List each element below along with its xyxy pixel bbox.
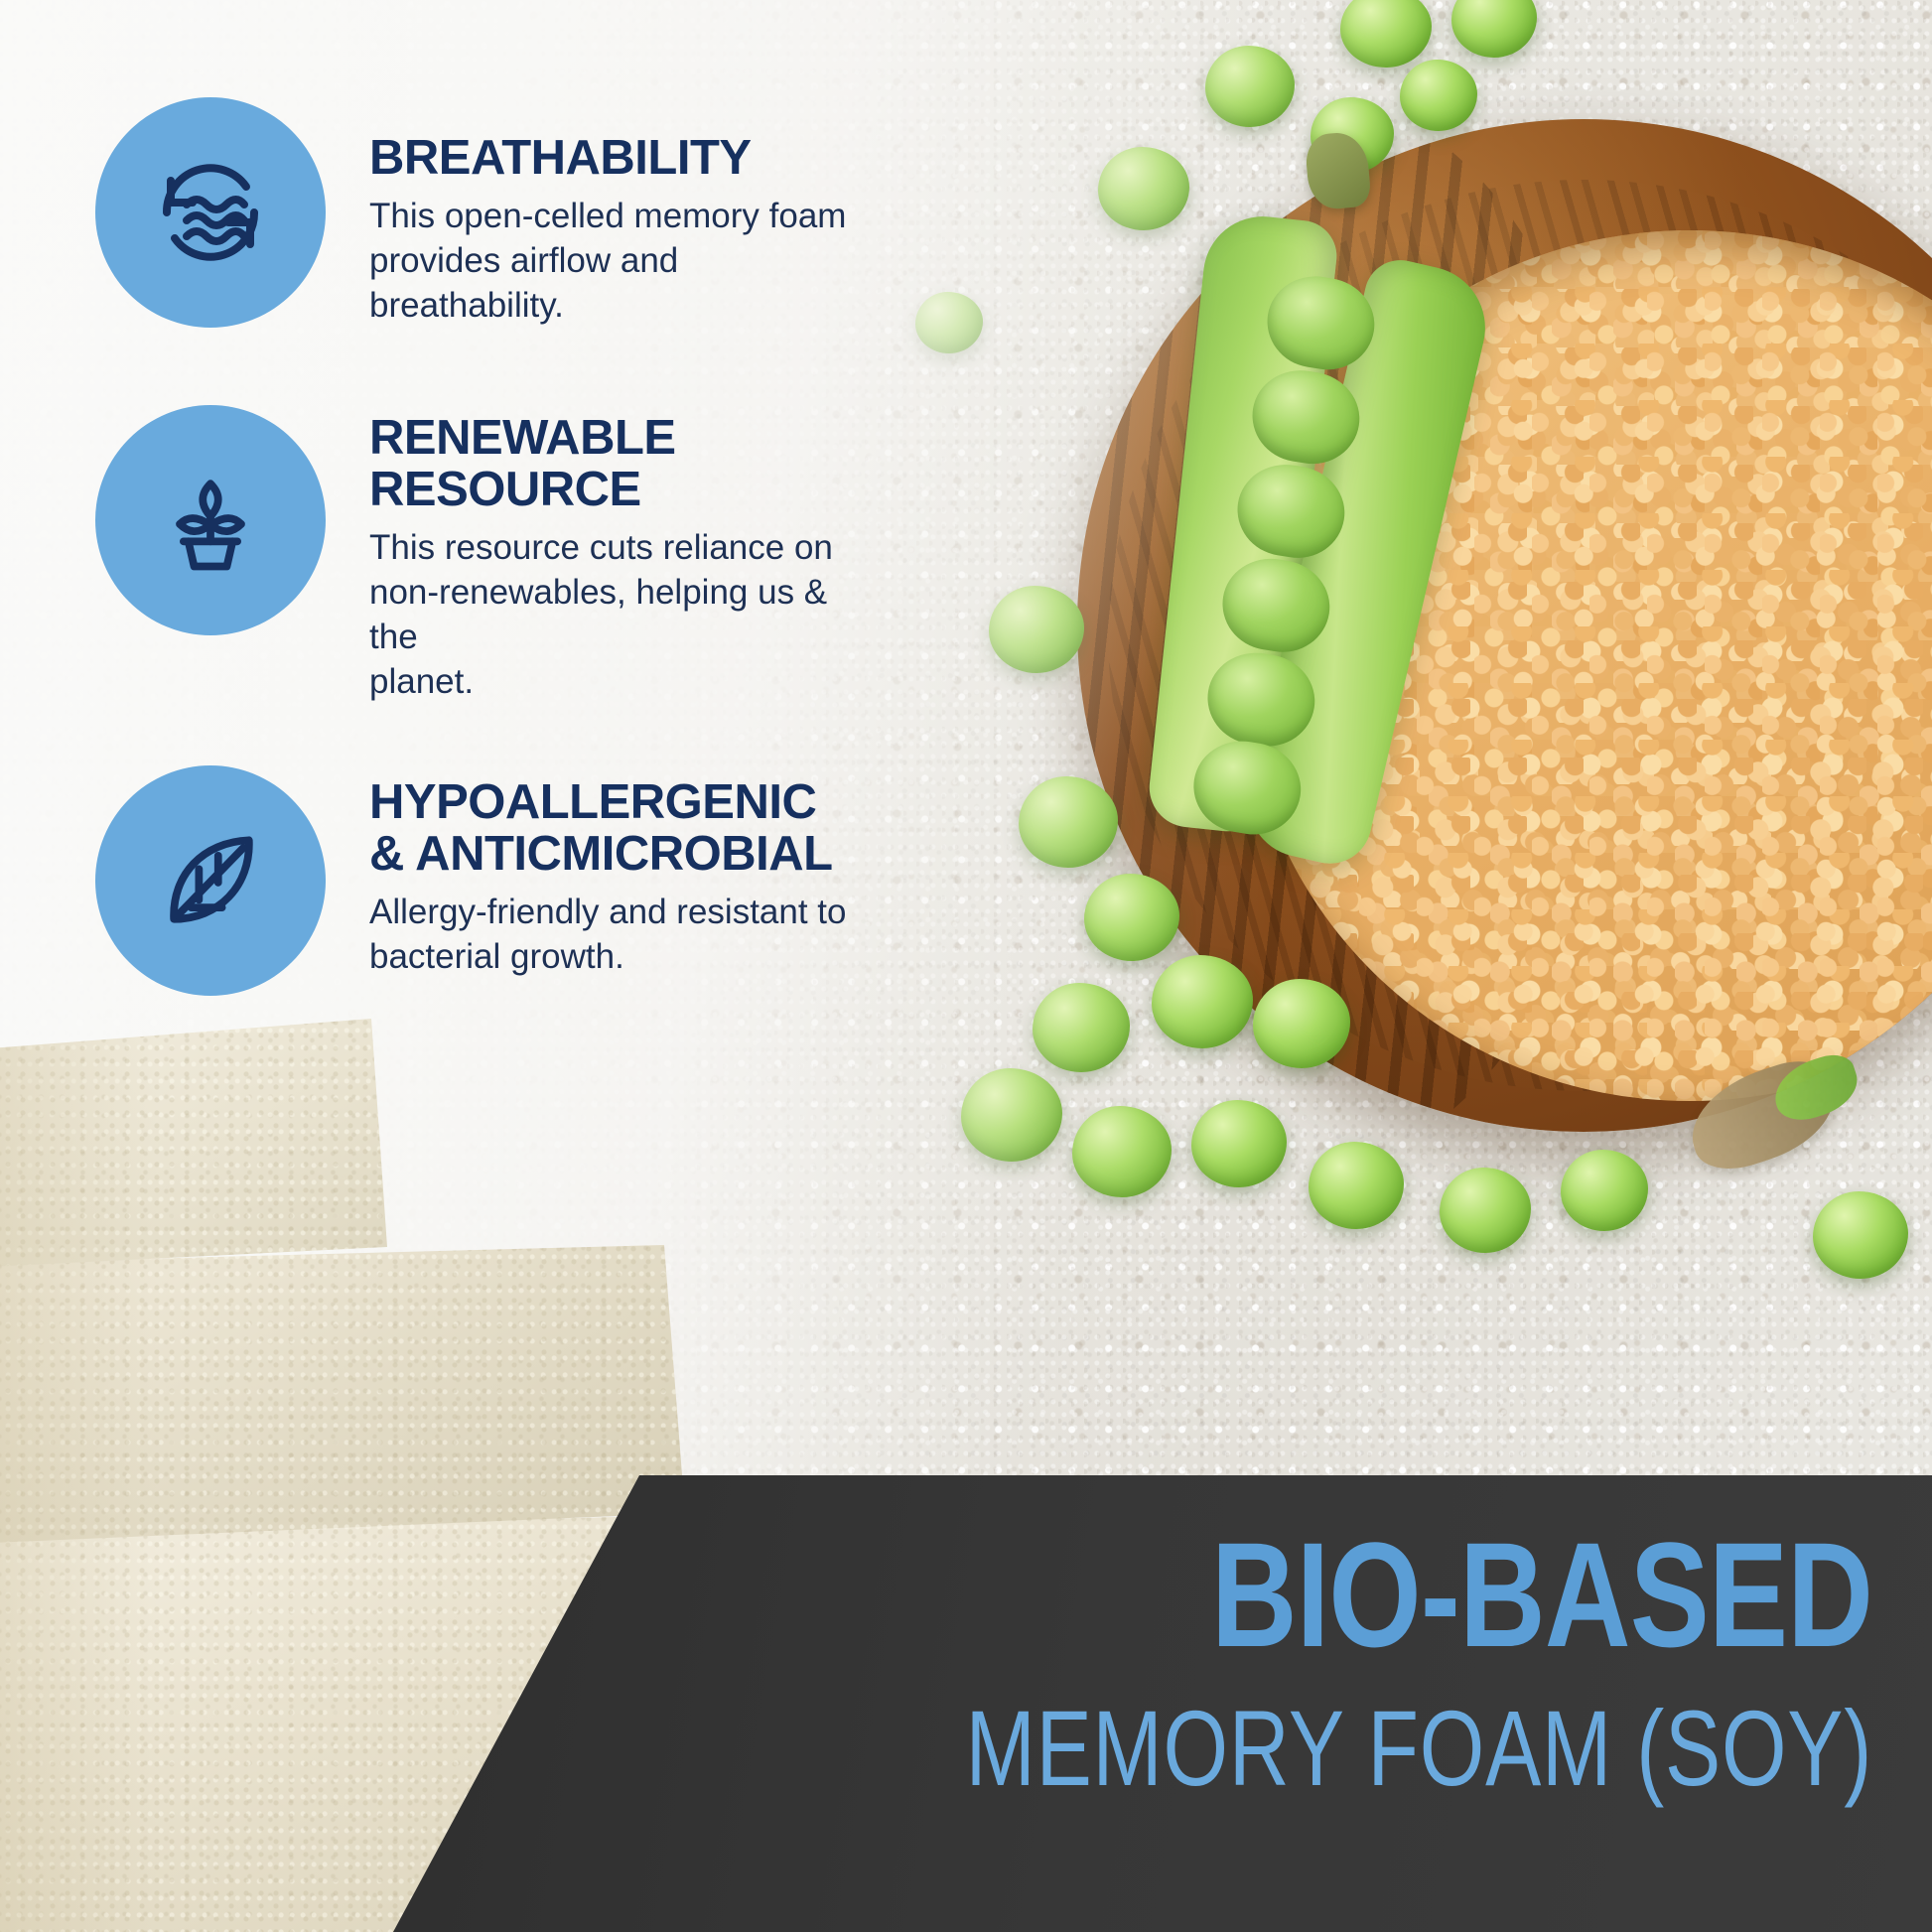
leaf-icon bbox=[149, 819, 272, 942]
feature-text: BREATHABILITY This open-celled memory fo… bbox=[369, 97, 866, 328]
feature-breathability: BREATHABILITY This open-celled memory fo… bbox=[95, 97, 973, 328]
feature-icon-badge bbox=[95, 765, 326, 996]
feature-body: This open-celled memory foam provides ai… bbox=[369, 195, 866, 328]
feature-title: BREATHABILITY bbox=[369, 133, 866, 185]
banner-subtitle: MEMORY FOAM (SOY) bbox=[966, 1692, 1872, 1804]
feature-body: Allergy-friendly and resistant to bacter… bbox=[369, 891, 847, 980]
feature-icon-badge bbox=[95, 97, 326, 328]
potted-plant-icon bbox=[149, 459, 272, 582]
feature-text: RENEWABLE RESOURCE This resource cuts re… bbox=[369, 405, 866, 704]
feature-title: HYPOALLERGENIC & ANTICMICROBIAL bbox=[369, 777, 847, 881]
feature-renewable-resource: RENEWABLE RESOURCE This resource cuts re… bbox=[95, 405, 973, 704]
feature-hypoallergenic: HYPOALLERGENIC & ANTICMICROBIAL Allergy-… bbox=[95, 765, 973, 996]
infographic-stage: BREATHABILITY This open-celled memory fo… bbox=[0, 0, 1932, 1932]
feature-icon-badge bbox=[95, 405, 326, 635]
banner-text-group: BIO-BASED MEMORY FOAM (SOY) bbox=[710, 1523, 1872, 1804]
feature-text: HYPOALLERGENIC & ANTICMICROBIAL Allergy-… bbox=[369, 765, 847, 979]
bottom-banner: BIO-BASED MEMORY FOAM (SOY) bbox=[393, 1475, 1932, 1932]
banner-title: BIO-BASED bbox=[942, 1523, 1872, 1666]
feature-title: RENEWABLE RESOURCE bbox=[369, 413, 866, 516]
feature-list: BREATHABILITY This open-celled memory fo… bbox=[0, 0, 973, 1172]
airflow-refresh-icon bbox=[147, 149, 274, 276]
feature-body: This resource cuts reliance on non-renew… bbox=[369, 526, 866, 704]
